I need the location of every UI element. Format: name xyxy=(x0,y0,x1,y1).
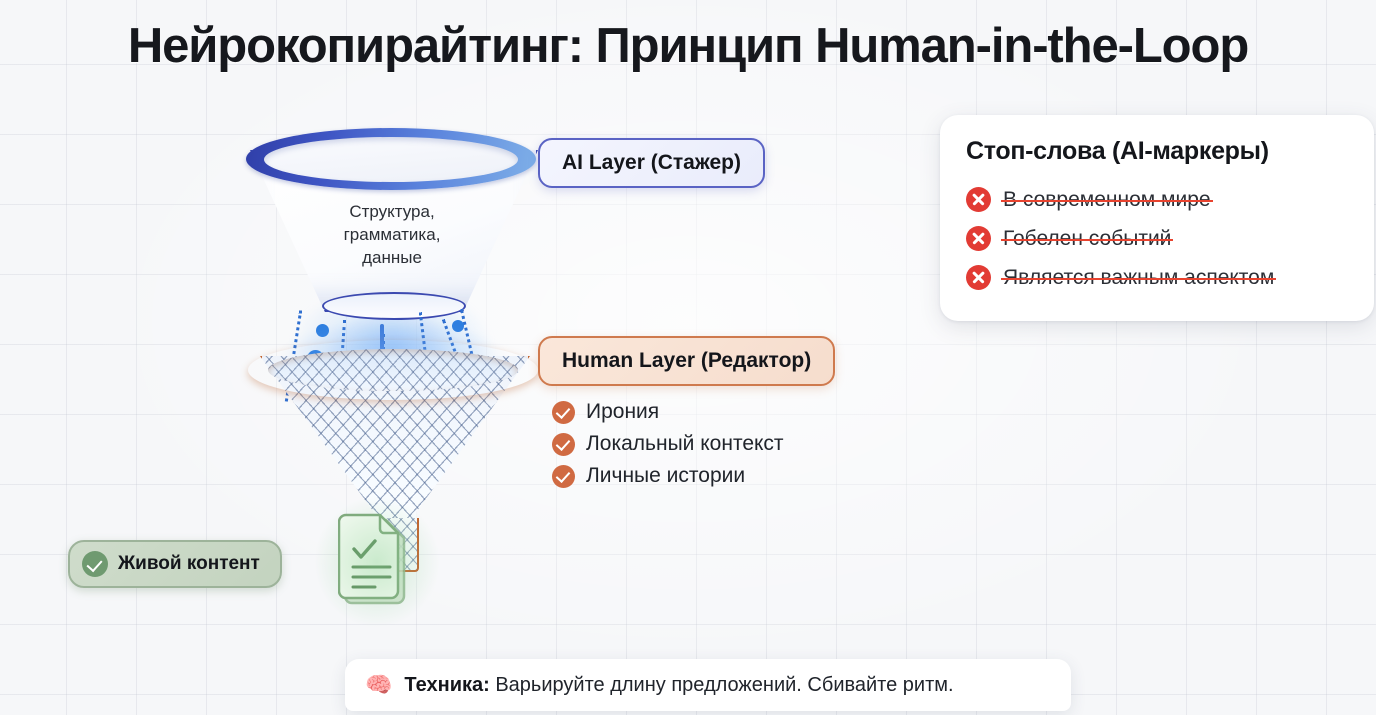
stop-words-card: Стоп-слова (AI-маркеры) В современном ми… xyxy=(940,115,1374,321)
x-circle-icon xyxy=(966,226,991,251)
live-content-label: Живой контент xyxy=(118,553,260,575)
list-item: Личные истории xyxy=(552,460,784,492)
ai-text-line-1: Структура, xyxy=(262,200,522,223)
ai-funnel-rim-inner xyxy=(264,137,518,182)
ai-text-line-2: грамматика, xyxy=(262,223,522,246)
stop-word-row: Гобелен событий xyxy=(966,219,1348,258)
check-circle-icon xyxy=(552,401,575,424)
stop-word-label: Гобелен событий xyxy=(1003,227,1171,251)
human-capability-list: Ирония Локальный контекст Личные истории xyxy=(552,396,784,492)
x-circle-icon xyxy=(966,187,991,212)
canvas-background: Нейрокопирайтинг: Принцип Human-in-the-L… xyxy=(0,0,1376,715)
document-check-icon xyxy=(338,512,416,610)
technique-text: Техника: Варьируйте длину предложений. С… xyxy=(404,674,953,697)
stop-word-row: В современном мире xyxy=(966,180,1348,219)
technique-bar: 🧠 Техника: Варьируйте длину предложений.… xyxy=(345,659,1071,711)
check-circle-icon xyxy=(552,465,575,488)
list-item: Ирония xyxy=(552,396,784,428)
technique-label: Техника: xyxy=(404,674,489,696)
ai-layer-badge[interactable]: AI Layer (Стажер) xyxy=(538,138,765,188)
funnel-diagram: Структура, грамматика, данные xyxy=(232,112,552,512)
list-item-label: Ирония xyxy=(586,400,659,424)
stop-words-heading: Стоп-слова (AI-маркеры) xyxy=(966,137,1348,166)
mesh-rim-inner xyxy=(268,349,518,391)
check-circle-icon xyxy=(82,551,108,577)
stop-word-label: В современном мире xyxy=(1003,188,1211,212)
stop-word-label: Является важным аспектом xyxy=(1003,266,1274,290)
technique-body: Варьируйте длину предложений. Сбивайте р… xyxy=(490,674,954,696)
list-item: Локальный контекст xyxy=(552,428,784,460)
ai-funnel-text: Структура, грамматика, данные xyxy=(262,200,522,269)
human-layer-badge[interactable]: Human Layer (Редактор) xyxy=(538,336,835,386)
page-title: Нейрокопирайтинг: Принцип Human-in-the-L… xyxy=(0,18,1376,74)
check-circle-icon xyxy=(552,433,575,456)
live-content-badge[interactable]: Живой контент xyxy=(68,540,282,588)
doc-glow xyxy=(312,494,442,630)
list-item-label: Локальный контекст xyxy=(586,432,784,456)
brain-emoji-icon: 🧠 xyxy=(365,672,392,698)
stop-word-row: Является важным аспектом xyxy=(966,258,1348,297)
ai-text-line-3: данные xyxy=(262,246,522,269)
x-circle-icon xyxy=(966,265,991,290)
list-item-label: Личные истории xyxy=(586,464,745,488)
